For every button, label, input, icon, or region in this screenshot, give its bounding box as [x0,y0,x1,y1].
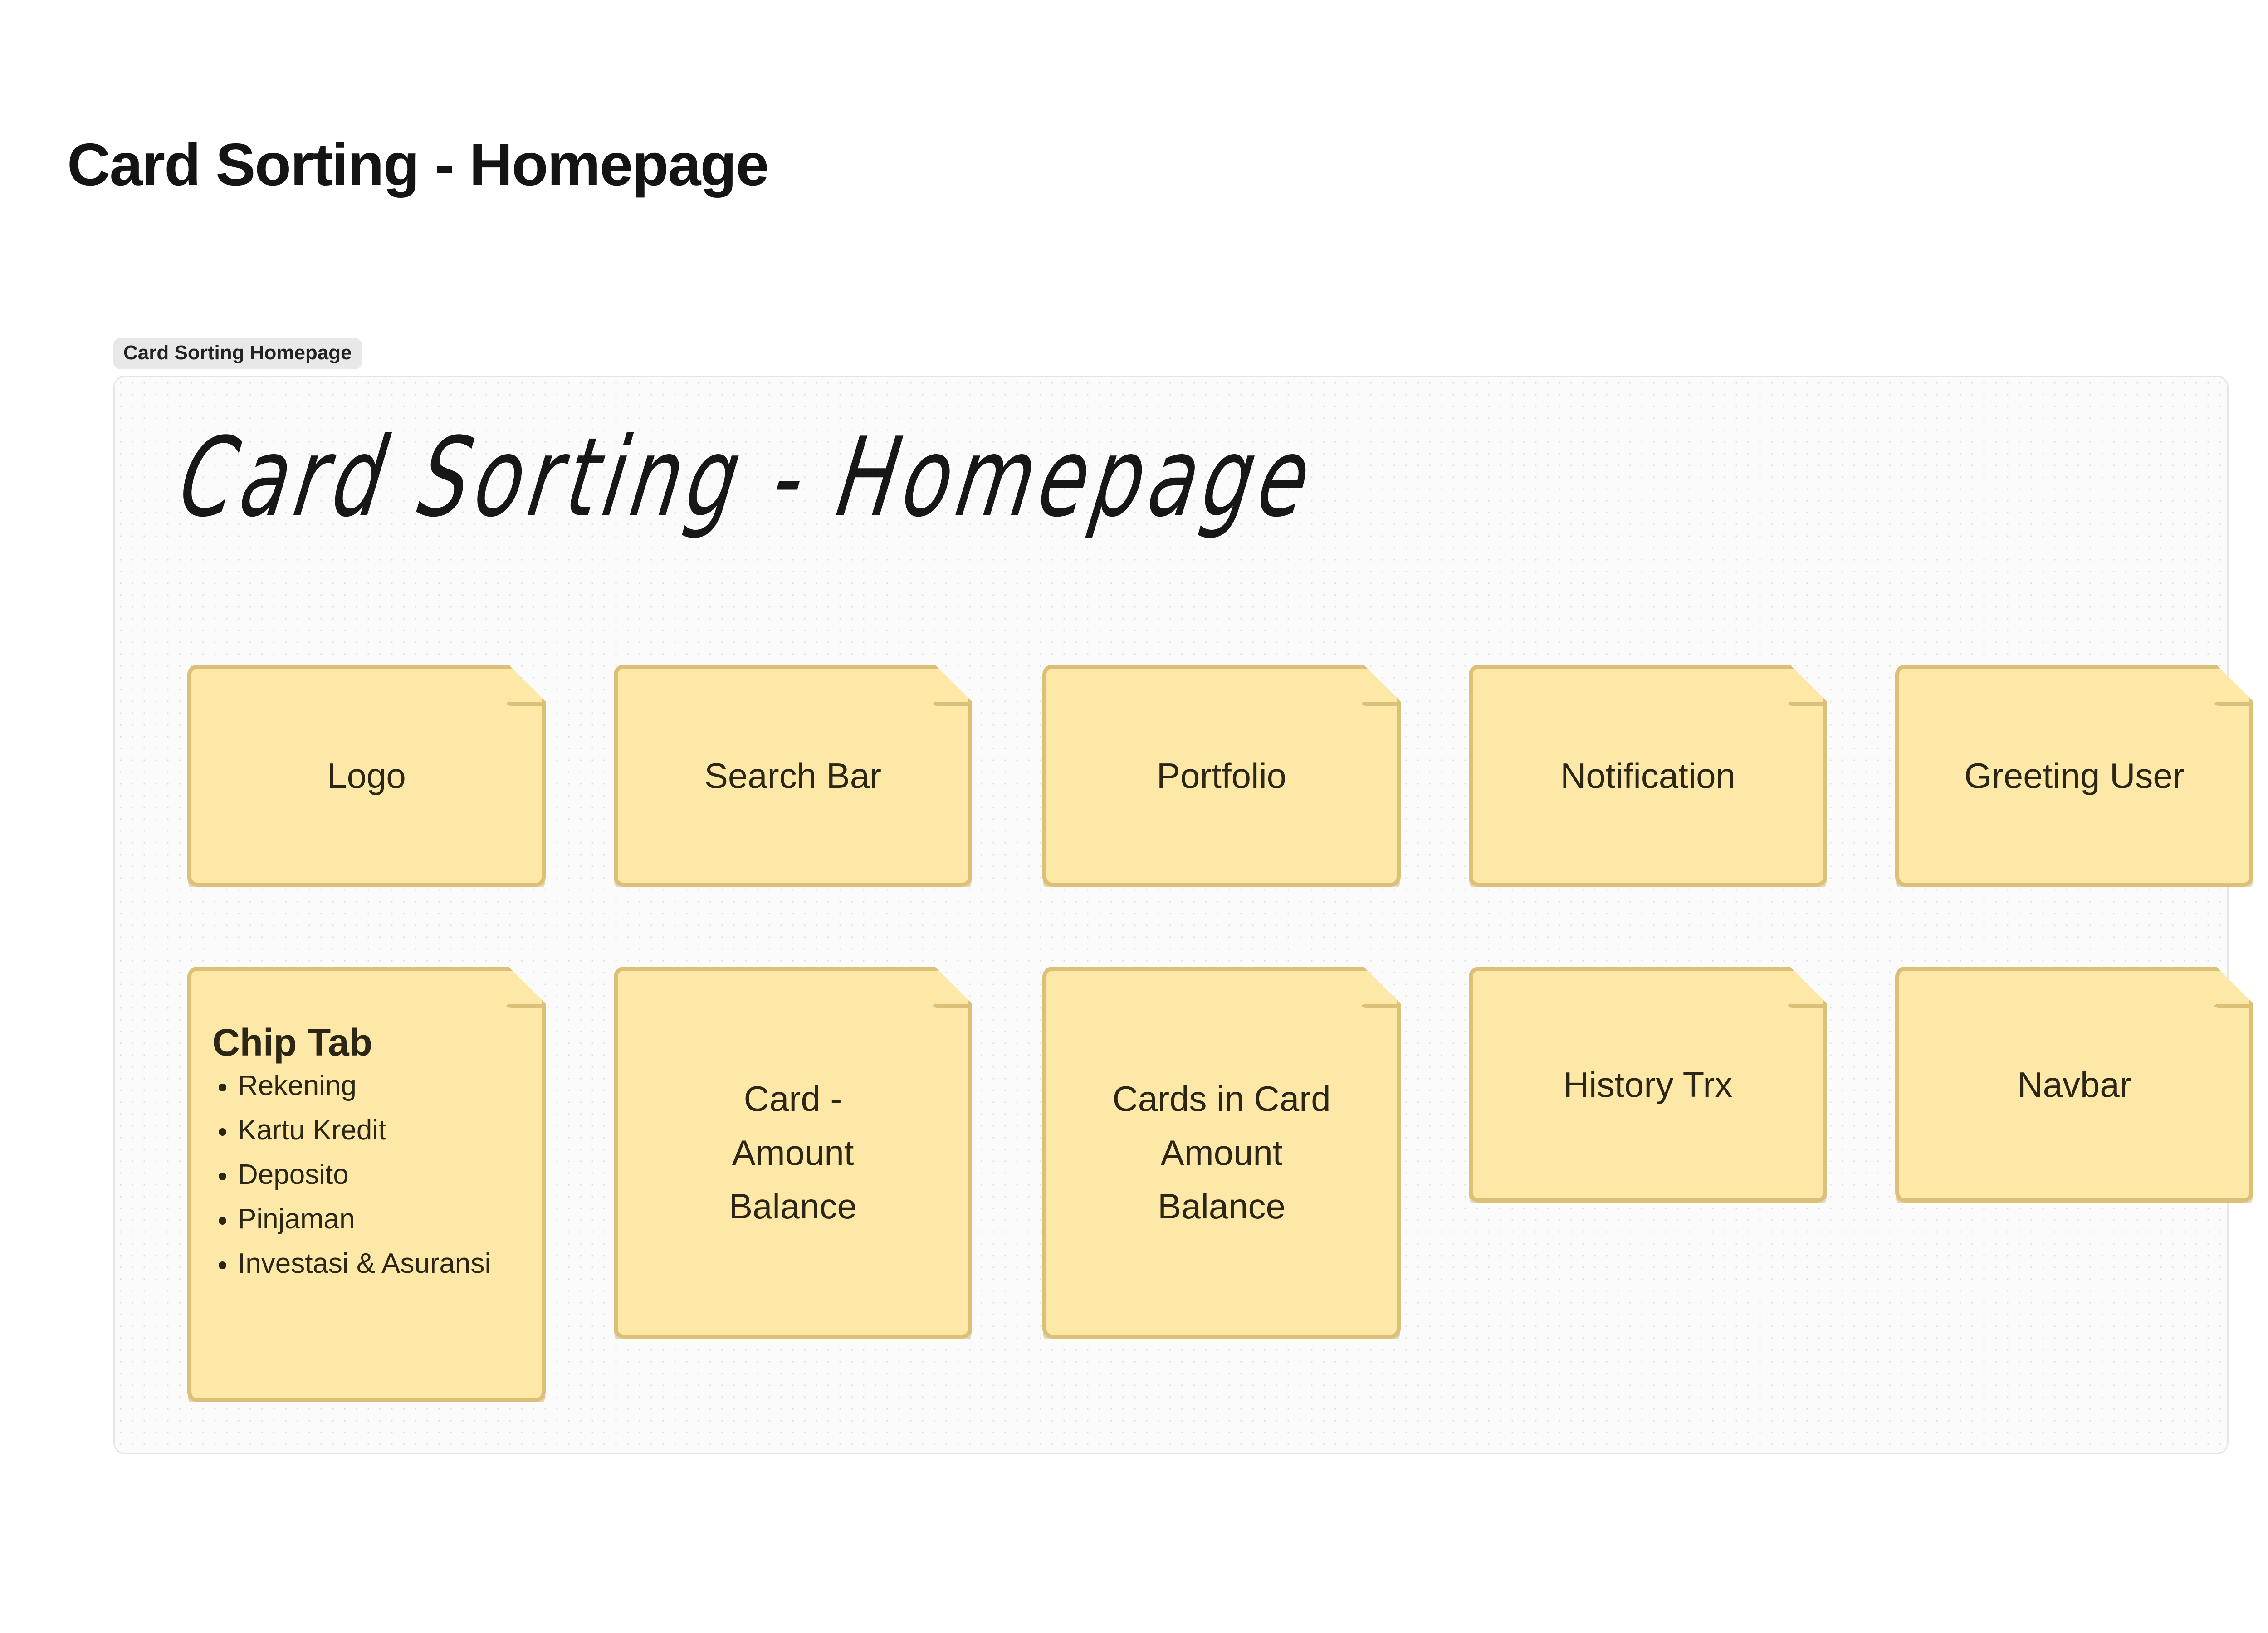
frame-tab-label[interactable]: Card Sorting Homepage [113,338,362,369]
page-title: Card Sorting - Homepage [67,132,768,197]
list-item: Rekening [212,1072,491,1100]
sticky-note-navbar[interactable]: Navbar [1895,967,2253,1203]
sticky-note-chip-tab[interactable]: Chip Tab Rekening Kartu Kredit Deposito … [187,967,546,1402]
sticky-note-label: Chip Tab [212,1020,372,1066]
sticky-note-label: History Trx [1564,1058,1733,1112]
sticky-note-label: Portfolio [1157,749,1286,803]
sticky-note-label: Search Bar [704,749,881,803]
sticky-note-card-amount-balance[interactable]: Card - Amount Balance [614,967,972,1339]
sticky-note-search-bar[interactable]: Search Bar [614,665,972,887]
sticky-note-greeting-user[interactable]: Greeting User [1895,665,2253,887]
sticky-notes-layer: Logo Search Bar Portfolio Notification [115,377,2227,1453]
list-item: Deposito [212,1161,491,1189]
sticky-note-label: Card - Amount Balance [729,1072,857,1233]
sticky-note-logo[interactable]: Logo [187,665,546,887]
sticky-note-history-trx[interactable]: History Trx [1469,967,1827,1203]
list-item: Pinjaman [212,1205,491,1233]
sticky-note-notification[interactable]: Notification [1469,665,1827,887]
sticky-note-label: Logo [327,749,406,803]
list-item: Kartu Kredit [212,1116,491,1144]
screenshot-root: Card Sorting - Homepage Card Sorting Hom… [0,0,2268,1633]
list-item: Investasi & Asuransi [212,1250,491,1278]
sticky-note-label: Notification [1560,749,1735,803]
sticky-note-cards-in-card-amount-balance[interactable]: Cards in Card Amount Balance [1042,967,1401,1339]
sticky-note-label: Cards in Card Amount Balance [1112,1072,1330,1233]
chip-tab-list: Rekening Kartu Kredit Deposito Pinjaman … [212,1072,491,1294]
sticky-note-label: Navbar [2017,1058,2131,1112]
design-canvas[interactable]: Card Sorting - Homepage Logo Search Bar … [113,376,2229,1454]
sticky-note-portfolio[interactable]: Portfolio [1042,665,1401,887]
sticky-note-label: Greeting User [1964,749,2185,803]
